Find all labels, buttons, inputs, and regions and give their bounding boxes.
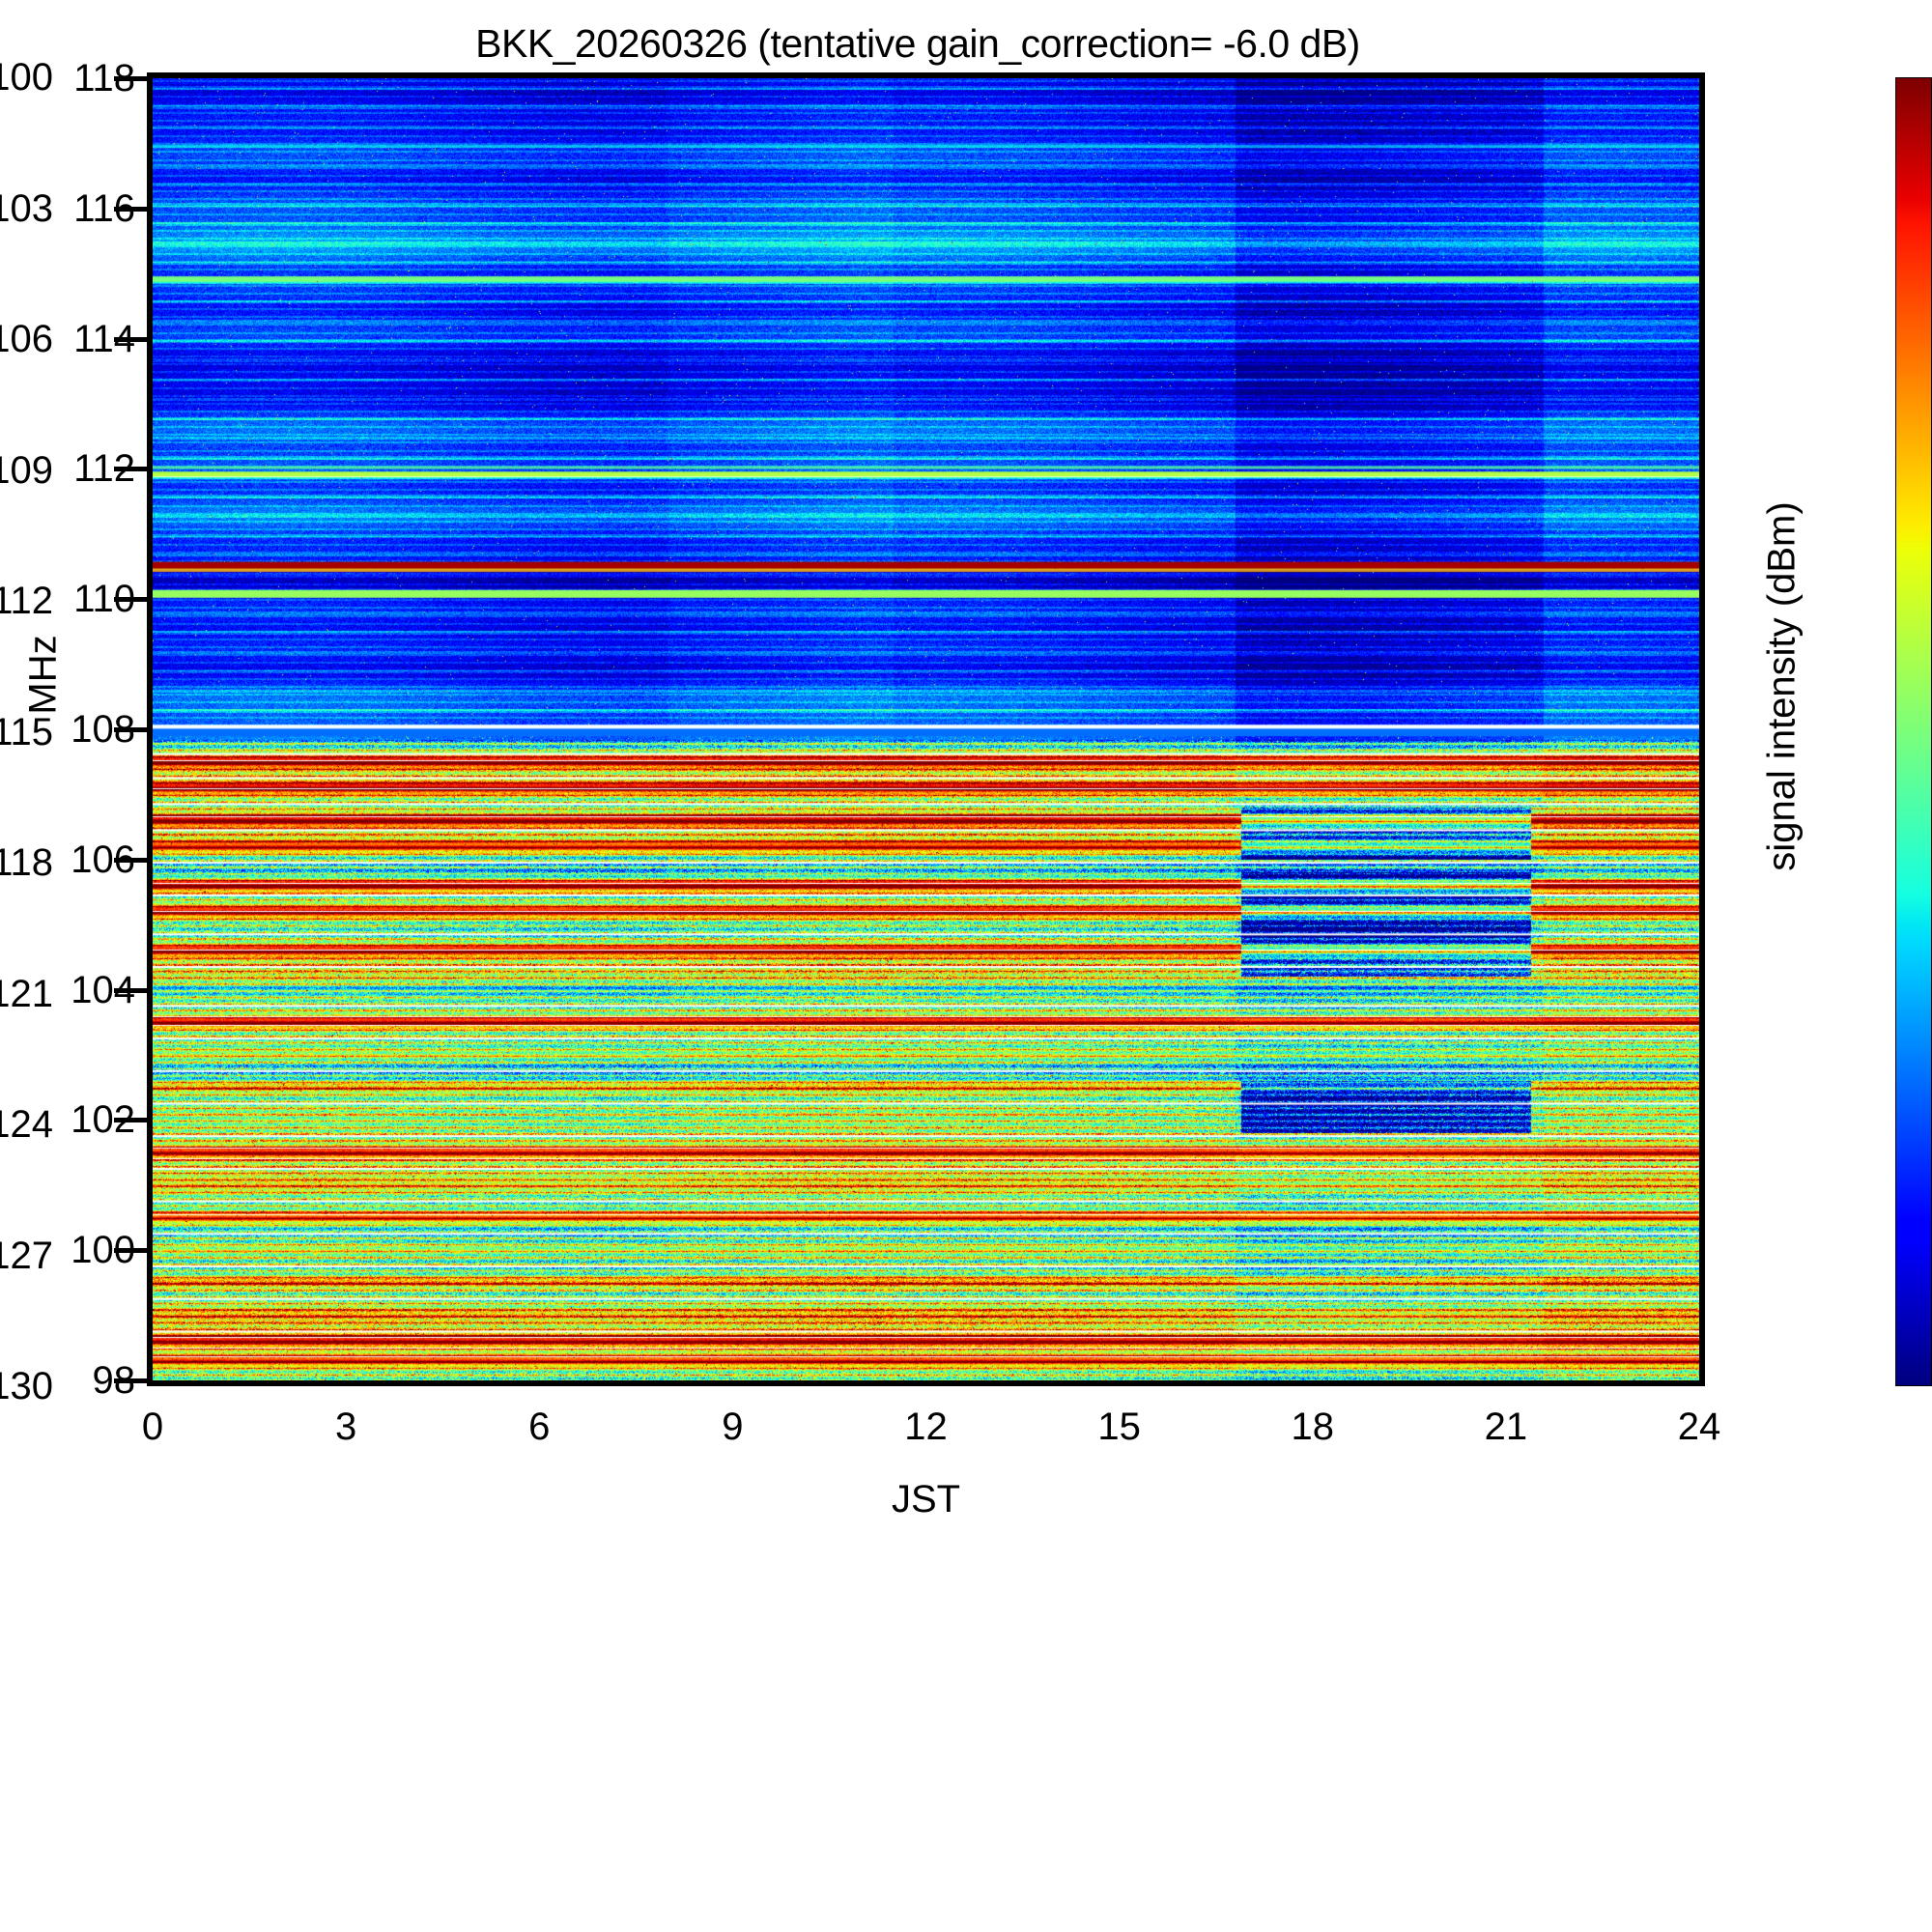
colorbar-tick--124: -124 bbox=[0, 1105, 53, 1144]
spectrogram-image bbox=[153, 78, 1699, 1380]
x-tick-3: 3 bbox=[249, 1406, 442, 1448]
x-tick-0: 0 bbox=[56, 1406, 249, 1448]
x-tick-12: 12 bbox=[830, 1406, 1023, 1448]
colorbar-tick--130: -130 bbox=[0, 1367, 53, 1406]
colorbar-tick--115: -115 bbox=[0, 713, 53, 752]
y-tick-mark-116 bbox=[114, 207, 147, 212]
x-tick-9: 9 bbox=[636, 1406, 829, 1448]
colorbar-tick--118: -118 bbox=[0, 843, 53, 882]
x-tick-15: 15 bbox=[1023, 1406, 1216, 1448]
colorbar-tick--103: -103 bbox=[0, 189, 53, 228]
colorbar-tick--109: -109 bbox=[0, 451, 53, 490]
colorbar-tick--121: -121 bbox=[0, 975, 53, 1013]
y-tick-mark-102 bbox=[114, 1118, 147, 1122]
colorbar-tick--106: -106 bbox=[0, 320, 53, 358]
colorbar bbox=[1895, 77, 1932, 1386]
colorbar-tick--127: -127 bbox=[0, 1236, 53, 1275]
y-tick-mark-100 bbox=[114, 1248, 147, 1253]
x-tick-18: 18 bbox=[1216, 1406, 1409, 1448]
plot-area bbox=[147, 72, 1705, 1386]
colorbar-gradient bbox=[1896, 78, 1931, 1385]
colorbar-label: signal intensity (dBm) bbox=[1761, 416, 1804, 957]
y-tick-mark-104 bbox=[114, 988, 147, 993]
x-tick-21: 21 bbox=[1409, 1406, 1603, 1448]
y-tick-mark-106 bbox=[114, 858, 147, 863]
y-tick-mark-112 bbox=[114, 467, 147, 471]
colorbar-tick--100: -100 bbox=[0, 58, 53, 97]
y-tick-mark-114 bbox=[114, 337, 147, 342]
chart-title: BKK_20260326 (tentative gain_correction=… bbox=[0, 21, 1835, 67]
y-tick-mark-108 bbox=[114, 727, 147, 732]
y-tick-mark-118 bbox=[114, 76, 147, 81]
y-tick-mark-98 bbox=[114, 1378, 147, 1383]
x-axis-label: JST bbox=[147, 1478, 1705, 1521]
colorbar-tick--112: -112 bbox=[0, 582, 53, 620]
x-tick-6: 6 bbox=[442, 1406, 636, 1448]
x-tick-24: 24 bbox=[1603, 1406, 1796, 1448]
spectrogram-figure: BKK_20260326 (tentative gain_correction=… bbox=[0, 0, 1932, 1932]
y-tick-mark-110 bbox=[114, 597, 147, 602]
